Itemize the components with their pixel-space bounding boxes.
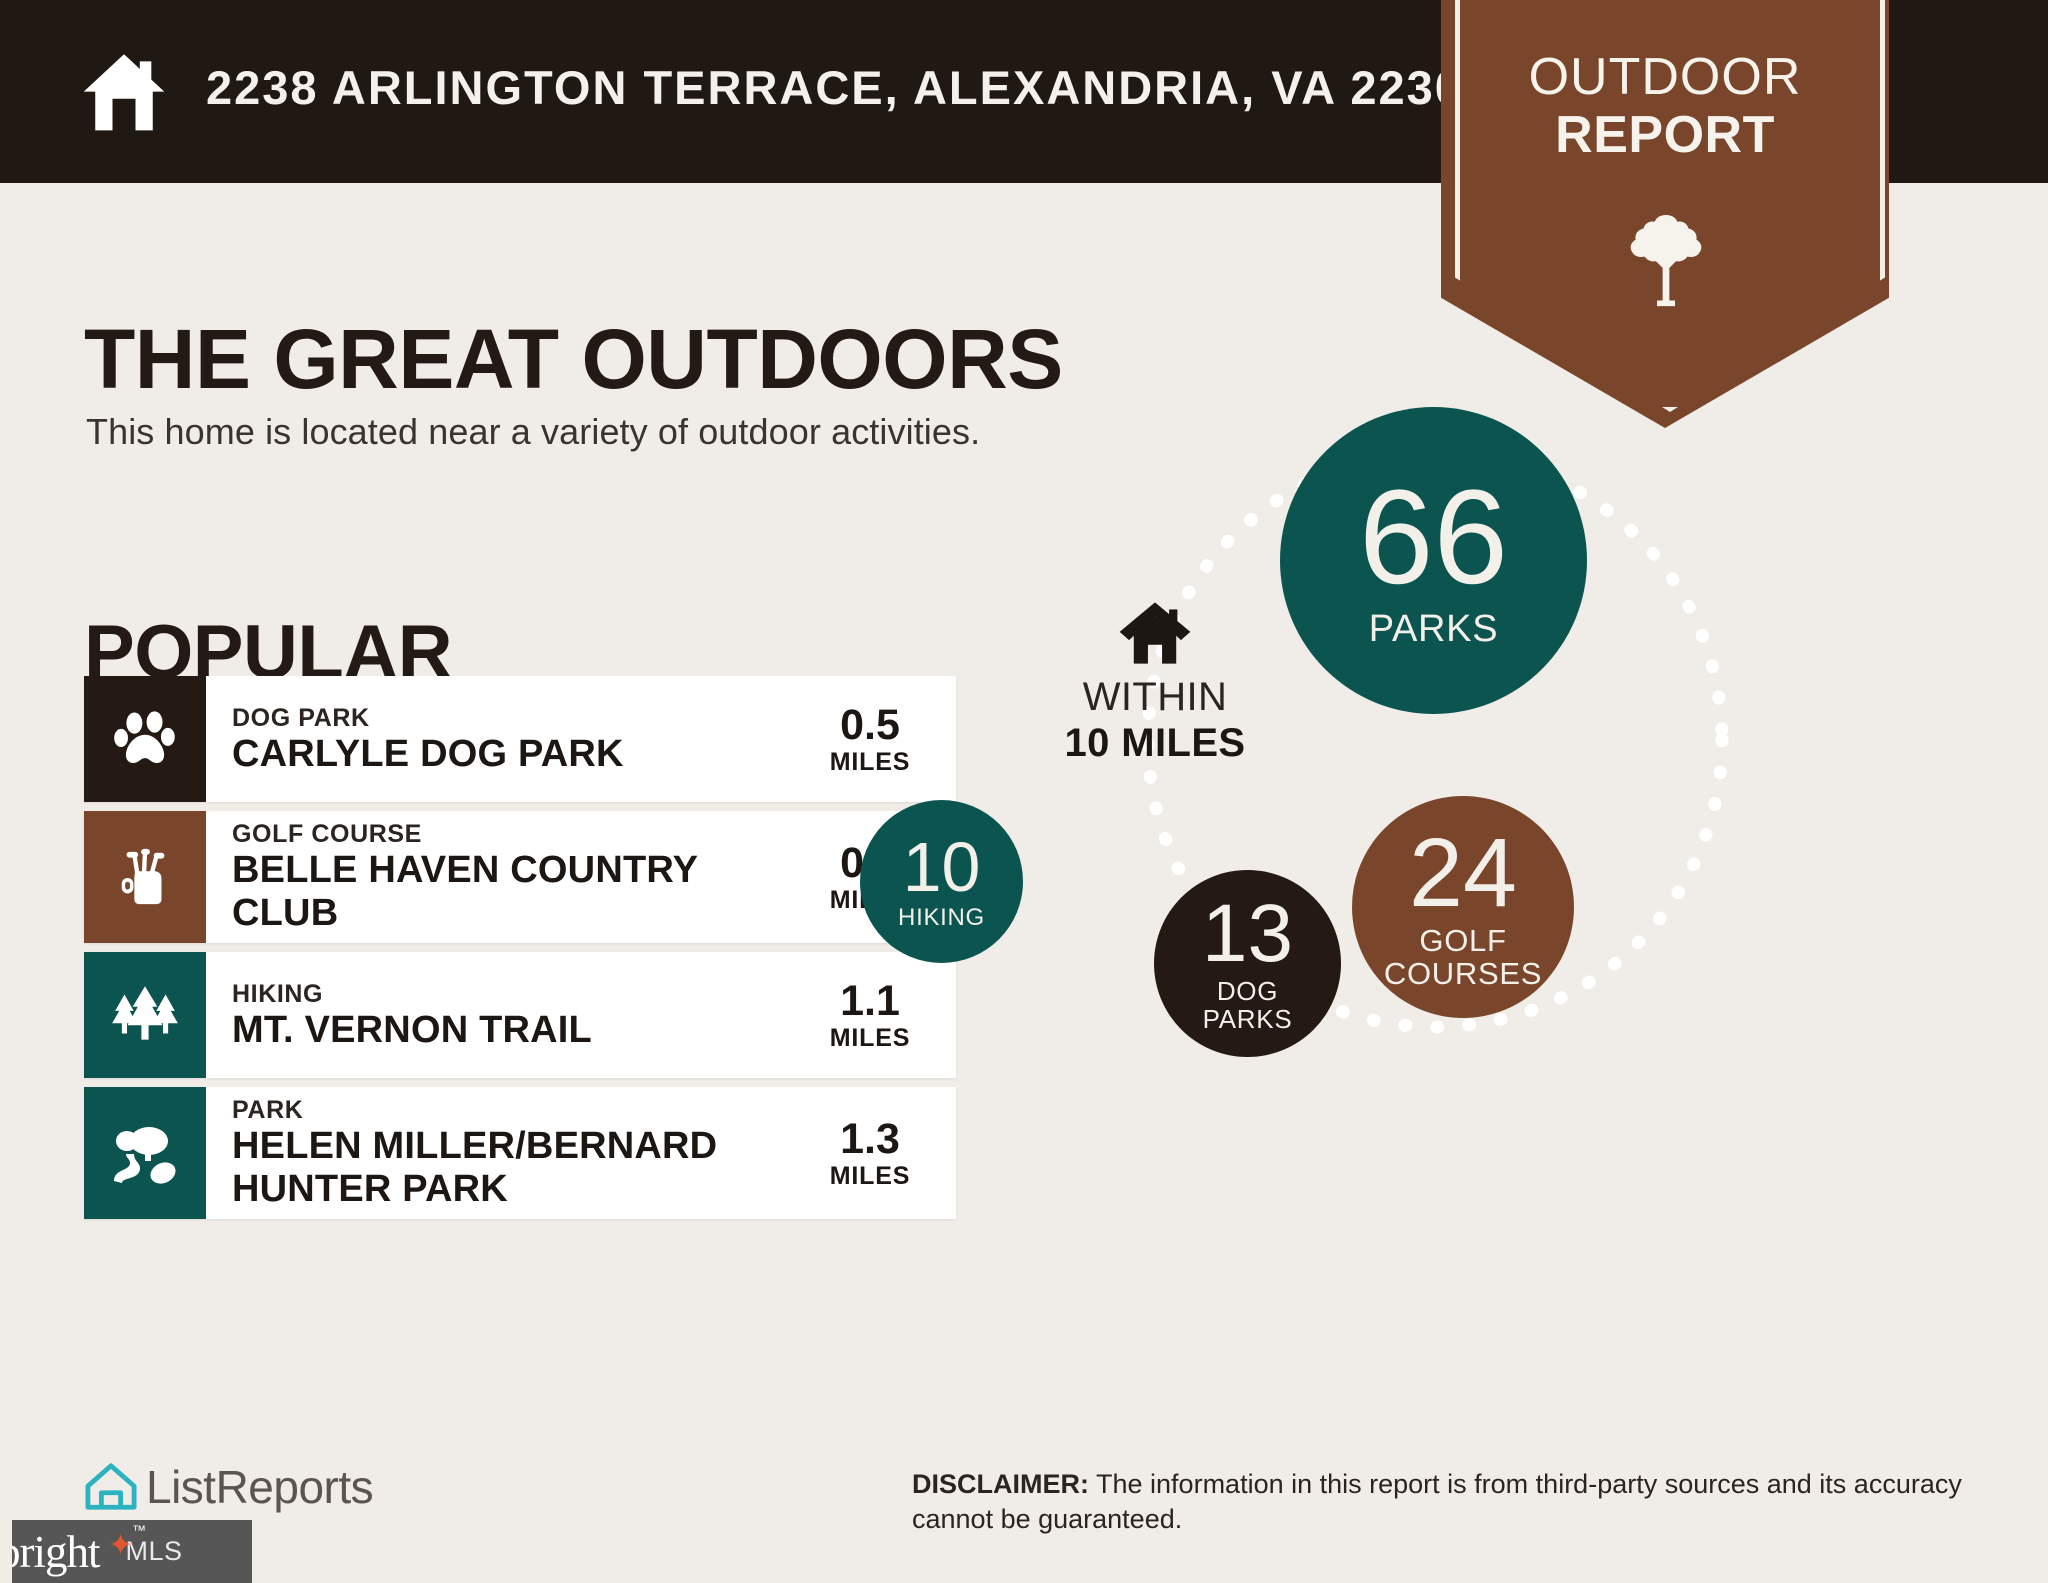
paw-print-icon [84,676,206,802]
star-icon: ✦ [108,1528,133,1563]
distance-value: 1.1 [840,978,900,1024]
list-item-category: GOLF COURSE [232,819,804,849]
list-item-distance: 1.3 MILES [804,1087,956,1219]
bubble-label: HIKING [898,905,985,930]
distance-unit: MILES [830,748,910,777]
badge-line-2: REPORT [1441,106,1889,164]
listreports-wordmark: ListReports [146,1460,373,1514]
distance-value: 0.5 [840,702,900,748]
property-address: 2238 ARLINGTON TERRACE, ALEXANDRIA, VA 2… [206,60,1491,115]
distance-unit: MILES [830,1024,910,1053]
list-item-category: HIKING [232,979,804,1009]
list-item-distance: 1.1 MILES [804,952,956,1078]
list-item[interactable]: HIKING MT. VERNON TRAIL 1.1 MILES [84,952,956,1078]
bubble-parks[interactable]: 66 PARKS [1280,407,1587,714]
bubble-value: 13 [1202,893,1293,975]
bright-mls-badge: bright ✦ ™ MLS [12,1520,252,1583]
badge-line-1: OUTDOOR [1529,48,1802,106]
list-item-name: MT. VERNON TRAIL [232,1009,804,1052]
bubble-label-line-1: GOLF [1419,925,1506,958]
distance-value: 1.3 [840,1116,900,1162]
house-icon [1117,600,1193,666]
trademark-symbol: ™ [132,1522,146,1538]
page-subtitle: This home is located near a variety of o… [86,411,980,453]
bright-mls-wordmark: bright [12,1526,100,1578]
park-tree-icon [84,1087,206,1219]
distance-unit: MILES [830,1162,910,1191]
disclaimer-label: DISCLAIMER: [912,1469,1089,1499]
badge-title: OUTDOOR REPORT [1441,48,1889,164]
bubble-value: 24 [1409,824,1517,921]
center-label-line-1: WITHIN [985,674,1325,720]
list-item-name: HELEN MILLER/BERNARD HUNTER PARK [232,1125,804,1211]
list-item[interactable]: GOLF COURSE BELLE HAVEN COUNTRY CLUB 0.8… [84,811,956,943]
page-title: THE GREAT OUTDOORS [84,311,1063,407]
list-item-distance: 0.5 MILES [804,676,956,802]
listreports-logo[interactable]: ListReports [82,1460,373,1514]
bubble-value: 66 [1359,471,1508,605]
mls-subtext: MLS [126,1536,183,1567]
bubble-label-line-2: COURSES [1384,958,1542,991]
amenities-bubble-chart: 66 PARKS 24 GOLF COURSES 13 DOG PARKS 10… [1060,440,2020,1300]
house-icon [78,47,170,139]
bubble-dog-parks[interactable]: 13 DOG PARKS [1154,870,1341,1057]
disclaimer: DISCLAIMER: The information in this repo… [912,1467,1982,1537]
outdoor-report-page: 2238 ARLINGTON TERRACE, ALEXANDRIA, VA 2… [0,0,2048,1583]
bubble-label-line-1: DOG [1217,978,1278,1006]
house-outline-icon [82,1461,140,1513]
list-item-category: DOG PARK [232,703,804,733]
list-item-name: BELLE HAVEN COUNTRY CLUB [232,849,804,935]
list-item[interactable]: PARK HELEN MILLER/BERNARD HUNTER PARK 1.… [84,1087,956,1219]
golf-bag-icon [84,811,206,943]
popular-places-list: DOG PARK CARLYLE DOG PARK 0.5 MILES [84,676,956,1228]
center-label-line-2: 10 MILES [985,720,1325,766]
chart-center-label: WITHIN 10 MILES [985,600,1325,766]
tree-icon [1630,212,1702,308]
bubble-label: PARKS [1369,609,1499,649]
bubble-golf-courses[interactable]: 24 GOLF COURSES [1352,796,1574,1018]
bubble-label-line-2: PARKS [1203,1006,1293,1034]
list-item-category: PARK [232,1095,804,1125]
list-item-name: CARLYLE DOG PARK [232,733,804,776]
pine-trees-icon [84,952,206,1078]
bubble-hiking[interactable]: 10 HIKING [860,800,1023,963]
list-item[interactable]: DOG PARK CARLYLE DOG PARK 0.5 MILES [84,676,956,802]
bubble-value: 10 [903,832,981,902]
